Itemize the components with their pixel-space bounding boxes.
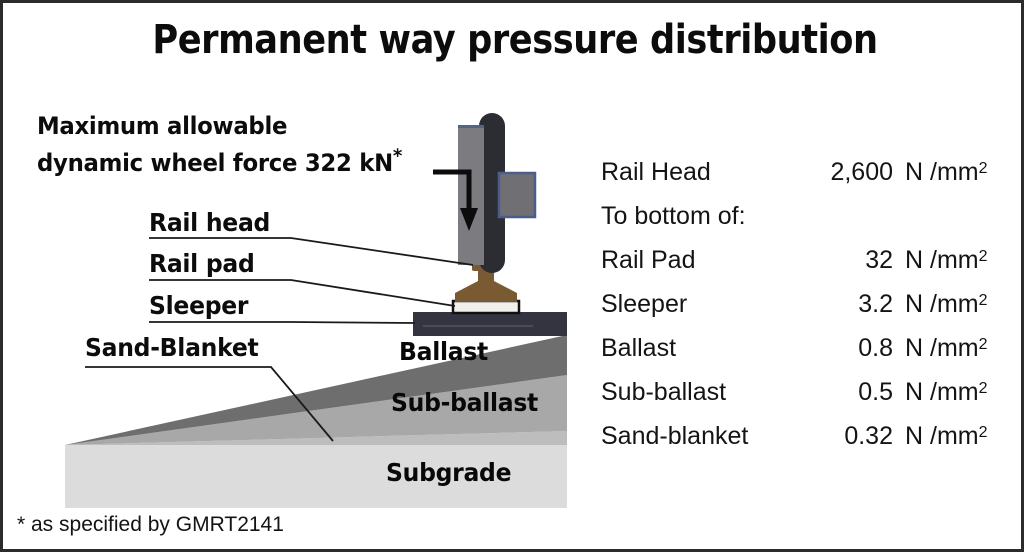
unit-text: N /mm [905,158,979,186]
table-cell-value: 2,600 [797,158,893,187]
table-row: Rail Head2,600N /mm2 [601,158,1013,202]
unit-exponent: 2 [979,292,988,309]
sleeper-block [413,312,567,336]
table-cell-name: Sleeper [601,290,797,319]
table-cell-unit: N /mm2 [893,378,988,407]
unit-text: N /mm [905,246,979,274]
unit-exponent: 2 [979,424,988,441]
unit-exponent: 2 [979,248,988,265]
rail-pad-block [453,301,519,313]
layer-caption-sub-ballast: Sub-ballast [391,388,538,417]
table-row: Ballast0.8N /mm2 [601,334,1013,378]
leader-sleeper [149,322,415,323]
table-row: Sand-blanket0.32N /mm2 [601,422,1013,466]
footnote-marker-icon: * [393,145,402,167]
table-row: Rail Pad32N /mm2 [601,246,1013,290]
table-cell-value: 32 [797,246,893,275]
force-note-line2: dynamic wheel force 322 kN [37,149,393,177]
unit-exponent: 2 [979,160,988,177]
force-note-line1: Maximum allowable [37,112,287,140]
unit-text: N /mm [905,422,979,450]
table-cell-name: To bottom of: [601,202,1013,231]
table-cell-name: Sand-blanket [601,422,797,451]
unit-text: N /mm [905,378,979,406]
unit-exponent: 2 [979,380,988,397]
max-wheel-force-note: Maximum allowable dynamic wheel force 32… [37,111,446,178]
table-cell-unit: N /mm2 [893,158,988,187]
table-cell-value: 0.5 [797,378,893,407]
diagram-canvas: Permanent way pressure distribution [0,0,1024,552]
table-cell-unit: N /mm2 [893,290,988,319]
table-cell-name: Rail Pad [601,246,797,275]
part-label-sand-blanket: Sand-Blanket [85,333,258,362]
table-cell-unit: N /mm2 [893,246,988,275]
table-cell-name: Sub-ballast [601,378,797,407]
table-row: To bottom of: [601,202,1013,246]
footnote: * as specified by GMRT2141 [17,513,284,537]
part-label-rail-head: Rail head [149,208,270,237]
table-row: Sub-ballast0.5N /mm2 [601,378,1013,422]
unit-exponent: 2 [979,336,988,353]
unit-text: N /mm [905,290,979,318]
table-cell-name: Rail Head [601,158,797,187]
wheel-face-highlight [458,125,484,128]
part-label-rail-pad: Rail pad [149,249,255,278]
table-cell-value: 3.2 [797,290,893,319]
sleeper-highlight [423,325,533,327]
axle-stub [499,173,535,217]
table-cell-unit: N /mm2 [893,422,988,451]
part-label-sleeper: Sleeper [149,291,248,320]
unit-text: N /mm [905,334,979,362]
pressure-table: Rail Head2,600N /mm2To bottom of:Rail Pa… [601,158,1013,466]
table-cell-value: 0.32 [797,422,893,451]
table-cell-unit: N /mm2 [893,334,988,363]
table-row: Sleeper3.2N /mm2 [601,290,1013,334]
layer-caption-subgrade: Subgrade [386,458,511,487]
table-cell-value: 0.8 [797,334,893,363]
table-cell-name: Ballast [601,334,797,363]
layer-caption-ballast: Ballast [399,337,488,366]
